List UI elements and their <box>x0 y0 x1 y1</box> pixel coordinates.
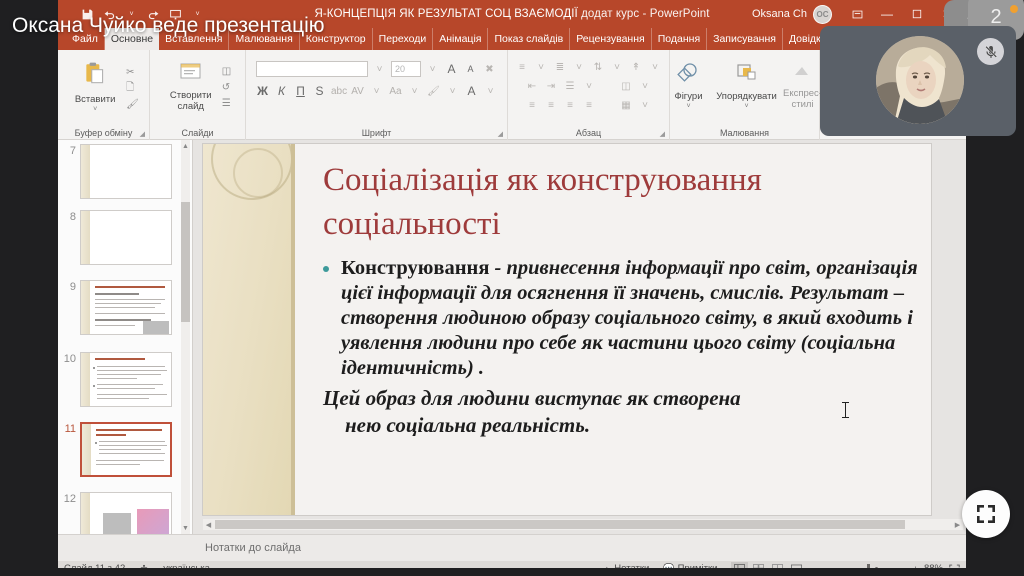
thumbnail-item-11[interactable]: 11 <box>58 422 193 477</box>
convert-smartart-icon[interactable]: ▦ <box>619 98 634 112</box>
arrange-button[interactable]: Упорядкувати ˅ <box>716 58 778 110</box>
ribbon-group-paragraph: ≡ ˅ ≣ ˅ ⇅ ˅ ↟ ˅ ⇤ ⇥ ☰ ˅ ◫ ˅ <box>508 50 670 140</box>
thumbnail-preview[interactable] <box>80 280 172 335</box>
thumbnail-preview[interactable] <box>80 144 172 199</box>
font-size-dropdown-icon[interactable]: ˅ <box>425 62 440 76</box>
thumbnail-number: 7 <box>58 144 80 157</box>
paragraph-dialog-launcher[interactable]: ◢ <box>660 130 665 138</box>
slide-paragraph-line1: Цей образ для людини виступає як створен… <box>323 386 741 410</box>
strikethrough-icon[interactable]: abc <box>331 86 346 97</box>
ribbon-tab-review[interactable]: Рецензування <box>570 28 651 50</box>
ribbon-tab-animations[interactable]: Анімація <box>433 28 488 50</box>
canvas-horizontal-scrollbar[interactable]: ◀ ▶ <box>203 519 963 530</box>
scroll-right-icon[interactable]: ▶ <box>952 519 963 530</box>
font-dialog-launcher[interactable]: ◢ <box>498 130 503 138</box>
thumbnail-item-12[interactable]: 12 <box>58 492 193 534</box>
character-spacing-dropdown-icon[interactable]: ˅ <box>369 84 384 98</box>
bold-button[interactable]: Ж <box>255 84 270 98</box>
numbering-dropdown-icon[interactable]: ˅ <box>572 60 587 74</box>
ribbon-tab-recording[interactable]: Записування <box>707 28 783 50</box>
slide-bullet-lead: Конструювання <box>341 257 495 279</box>
shapes-label: Фігури <box>674 91 702 102</box>
decrease-font-size-icon[interactable]: A <box>463 62 478 76</box>
slide-band-edge <box>291 144 295 515</box>
paste-button[interactable]: Вставити ˅ <box>68 57 122 113</box>
avatar <box>876 36 964 124</box>
thumbnail-number: 10 <box>58 352 80 365</box>
new-slide-icon <box>178 61 204 88</box>
paste-dropdown-icon[interactable]: ˅ <box>93 106 97 113</box>
slide-canvas[interactable]: Соціалізація як конструювання соціальнос… <box>193 140 966 534</box>
numbering-icon[interactable]: ≣ <box>553 60 568 74</box>
thumbnail-preview[interactable] <box>80 210 172 265</box>
ribbon-group-clipboard: Вставити ˅ ✂ 🗋 🖌 Буфер обміну ◢ <box>58 50 150 140</box>
format-painter-icon[interactable]: 🖌 <box>126 98 139 111</box>
shapes-icon <box>676 62 702 89</box>
character-spacing-icon[interactable]: AV <box>350 86 365 97</box>
slide-thumbnail-panel[interactable]: 7 8 9 <box>58 140 193 534</box>
ribbon-tab-view[interactable]: Подання <box>652 28 707 50</box>
quick-styles-icon <box>791 61 815 86</box>
align-center-icon[interactable]: ≡ <box>544 98 559 112</box>
thumbnail-scrollbar[interactable]: ▲ ▼ <box>181 140 190 534</box>
thumbnail-preview[interactable] <box>80 352 172 407</box>
line-spacing-icon[interactable]: ⇅ <box>591 60 606 74</box>
align-text-dropdown-icon[interactable]: ˅ <box>582 79 597 93</box>
clipboard-dialog-launcher[interactable]: ◢ <box>140 130 145 138</box>
slide-paragraph-2[interactable]: Цей образ для людини виступає як створен… <box>315 385 921 439</box>
thumbnail-number: 8 <box>58 210 80 223</box>
titlebar-right: Oksana Ch OC — ✕ <box>752 0 966 28</box>
cut-icon[interactable]: ✂ <box>126 66 139 79</box>
document-title-main: Я-КОНЦЕПЦІЯ ЯК РЕЗУЛЬТАТ СОЦ ВЗАЄМОДІЇ <box>314 8 577 20</box>
notes-pane[interactable]: Нотатки до слайда <box>193 534 966 561</box>
ribbon-group-slides: Створити слайд ◫ ↺ ☰ Слайди <box>150 50 246 140</box>
text-direction-icon[interactable]: ↟ <box>629 60 644 74</box>
presenter-banner: Оксана Чуйко веде презентацію <box>12 14 325 38</box>
font-name-dropdown-icon[interactable]: ˅ <box>372 62 387 76</box>
quick-styles-label: Експрес-стилі <box>782 88 824 110</box>
font-size-input[interactable]: 20 <box>391 61 421 77</box>
meeting-screenshare-root: ˅ ˅ Я-КОНЦЕПЦІЯ ЯК РЕЗУЛЬТАТ СОЦ ВЗАЄМОД… <box>0 0 1024 576</box>
font-name-input[interactable] <box>256 61 368 77</box>
underline-button[interactable]: П <box>293 84 308 98</box>
section-icon[interactable]: ☰ <box>222 97 231 110</box>
thumbnail-scroll-down-icon[interactable]: ▼ <box>181 522 190 534</box>
ribbon-group-font: ˅ 20 ˅ A A ✖ Ж К П S abc AV ˅ Aa ˅ <box>246 50 508 140</box>
shapes-button[interactable]: Фігури ˅ <box>666 58 712 110</box>
line-spacing-dropdown-icon[interactable]: ˅ <box>610 60 625 74</box>
shapes-dropdown-icon[interactable]: ˅ <box>686 103 690 110</box>
current-slide[interactable]: Соціалізація як конструювання соціальнос… <box>203 144 931 515</box>
account-name[interactable]: Oksana Ch <box>752 8 807 20</box>
paste-label: Вставити <box>75 94 116 105</box>
paragraph-group-label: Абзац <box>508 128 669 138</box>
change-case-icon[interactable]: Aa <box>388 86 403 97</box>
clipboard-small-buttons: ✂ 🗋 🖌 <box>126 60 139 111</box>
reset-icon[interactable]: ↺ <box>222 81 231 94</box>
work-area: 7 8 9 <box>58 140 966 576</box>
font-color-icon[interactable]: A <box>464 84 479 98</box>
new-slide-button[interactable]: Створити слайд <box>164 57 218 112</box>
arrange-icon <box>734 62 760 89</box>
thumbnail-preview-selected[interactable] <box>80 422 172 477</box>
ribbon-tab-slideshow[interactable]: Показ слайдів <box>488 28 570 50</box>
bottom-rail <box>0 568 1024 576</box>
ribbon-display-options-button[interactable] <box>842 0 872 28</box>
thumbnail-scroll-up-icon[interactable]: ▲ <box>181 140 190 152</box>
arrange-label: Упорядкувати <box>716 91 777 102</box>
slide-paragraph-line2: нею соціальна реальність. <box>323 412 921 439</box>
thumbnail-item-9[interactable]: 9 <box>58 280 193 335</box>
fullscreen-expand-icon <box>975 503 997 525</box>
notes-pane-left-filler <box>58 534 193 561</box>
columns-icon[interactable]: ◫ <box>619 79 634 93</box>
align-text-icon[interactable]: ☰ <box>563 79 578 93</box>
maximize-button[interactable] <box>902 0 932 28</box>
mic-off-icon[interactable] <box>977 38 1004 65</box>
slides-small-buttons: ◫ ↺ ☰ <box>222 59 231 110</box>
thumbnail-number: 11 <box>58 422 80 435</box>
italic-button[interactable]: К <box>274 84 289 98</box>
new-slide-label: Створити слайд <box>164 90 218 112</box>
shadow-button[interactable]: S <box>312 84 327 98</box>
thumbnail-item-10[interactable]: 10 <box>58 352 193 407</box>
account-avatar[interactable]: OC <box>813 5 832 24</box>
thumbnail-preview[interactable] <box>80 492 172 534</box>
indent-decrease-icon[interactable]: ⇤ <box>525 79 540 93</box>
slide-body[interactable]: Конструювання - привнесення інформації п… <box>315 256 921 439</box>
align-left-icon[interactable]: ≡ <box>525 98 540 112</box>
text-cursor-icon <box>845 402 846 418</box>
thumbnail-number: 9 <box>58 280 80 293</box>
thumbnail-item-7[interactable]: 7 <box>58 144 193 199</box>
indent-increase-icon[interactable]: ⇥ <box>544 79 559 93</box>
layout-icon[interactable]: ◫ <box>222 65 231 78</box>
justify-icon[interactable]: ≡ <box>582 98 597 112</box>
thumbnail-scroll-thumb[interactable] <box>181 202 190 322</box>
canvas-hscroll-thumb[interactable] <box>215 520 905 529</box>
clipboard-group-label: Буфер обміну <box>58 128 149 138</box>
text-highlight-icon[interactable]: 🖌 <box>426 86 441 97</box>
left-rail <box>0 0 58 576</box>
clear-formatting-icon[interactable]: ✖ <box>482 62 497 76</box>
slide-bullet-1[interactable]: Конструювання - привнесення інформації п… <box>315 256 921 381</box>
increase-font-size-icon[interactable]: A <box>444 62 459 76</box>
fullscreen-button[interactable] <box>962 490 1010 538</box>
columns-dropdown-icon[interactable]: ˅ <box>638 79 653 93</box>
minimize-button[interactable]: — <box>872 0 902 28</box>
thumbnail-item-8[interactable]: 8 <box>58 210 193 265</box>
text-highlight-dropdown-icon[interactable]: ˅ <box>445 84 460 98</box>
notification-dot-badge <box>1010 5 1018 13</box>
align-right-icon[interactable]: ≡ <box>563 98 578 112</box>
paste-icon <box>82 61 108 92</box>
slides-group-label: Слайди <box>150 128 245 138</box>
thumbnail-number: 12 <box>58 492 80 505</box>
quick-styles-button[interactable]: Експрес-стилі <box>782 57 824 110</box>
font-group-label: Шрифт <box>246 128 507 138</box>
bullets-dropdown-icon[interactable]: ˅ <box>534 60 549 74</box>
change-case-dropdown-icon[interactable]: ˅ <box>407 84 422 98</box>
participant-video-tile[interactable] <box>820 26 1016 136</box>
ribbon-tab-transitions[interactable]: Переходи <box>373 28 434 50</box>
text-direction-dropdown-icon[interactable]: ˅ <box>648 60 663 74</box>
slide-decorative-band <box>203 144 291 515</box>
scroll-left-icon[interactable]: ◀ <box>203 519 214 530</box>
ribbon-group-drawing: Фігури ˅ Упорядкувати ˅ <box>670 50 820 140</box>
arrange-dropdown-icon[interactable]: ˅ <box>744 103 748 110</box>
bullets-icon[interactable]: ≡ <box>515 60 530 74</box>
copy-icon[interactable]: 🗋 <box>126 82 139 95</box>
font-color-dropdown-icon[interactable]: ˅ <box>483 84 498 98</box>
slide-title[interactable]: Соціалізація як конструювання соціальнос… <box>323 158 915 246</box>
convert-smartart-dropdown-icon[interactable]: ˅ <box>638 98 653 112</box>
document-title-suffix: додат курс - PowerPoint <box>578 8 710 20</box>
drawing-group-label: Малювання <box>670 128 819 138</box>
